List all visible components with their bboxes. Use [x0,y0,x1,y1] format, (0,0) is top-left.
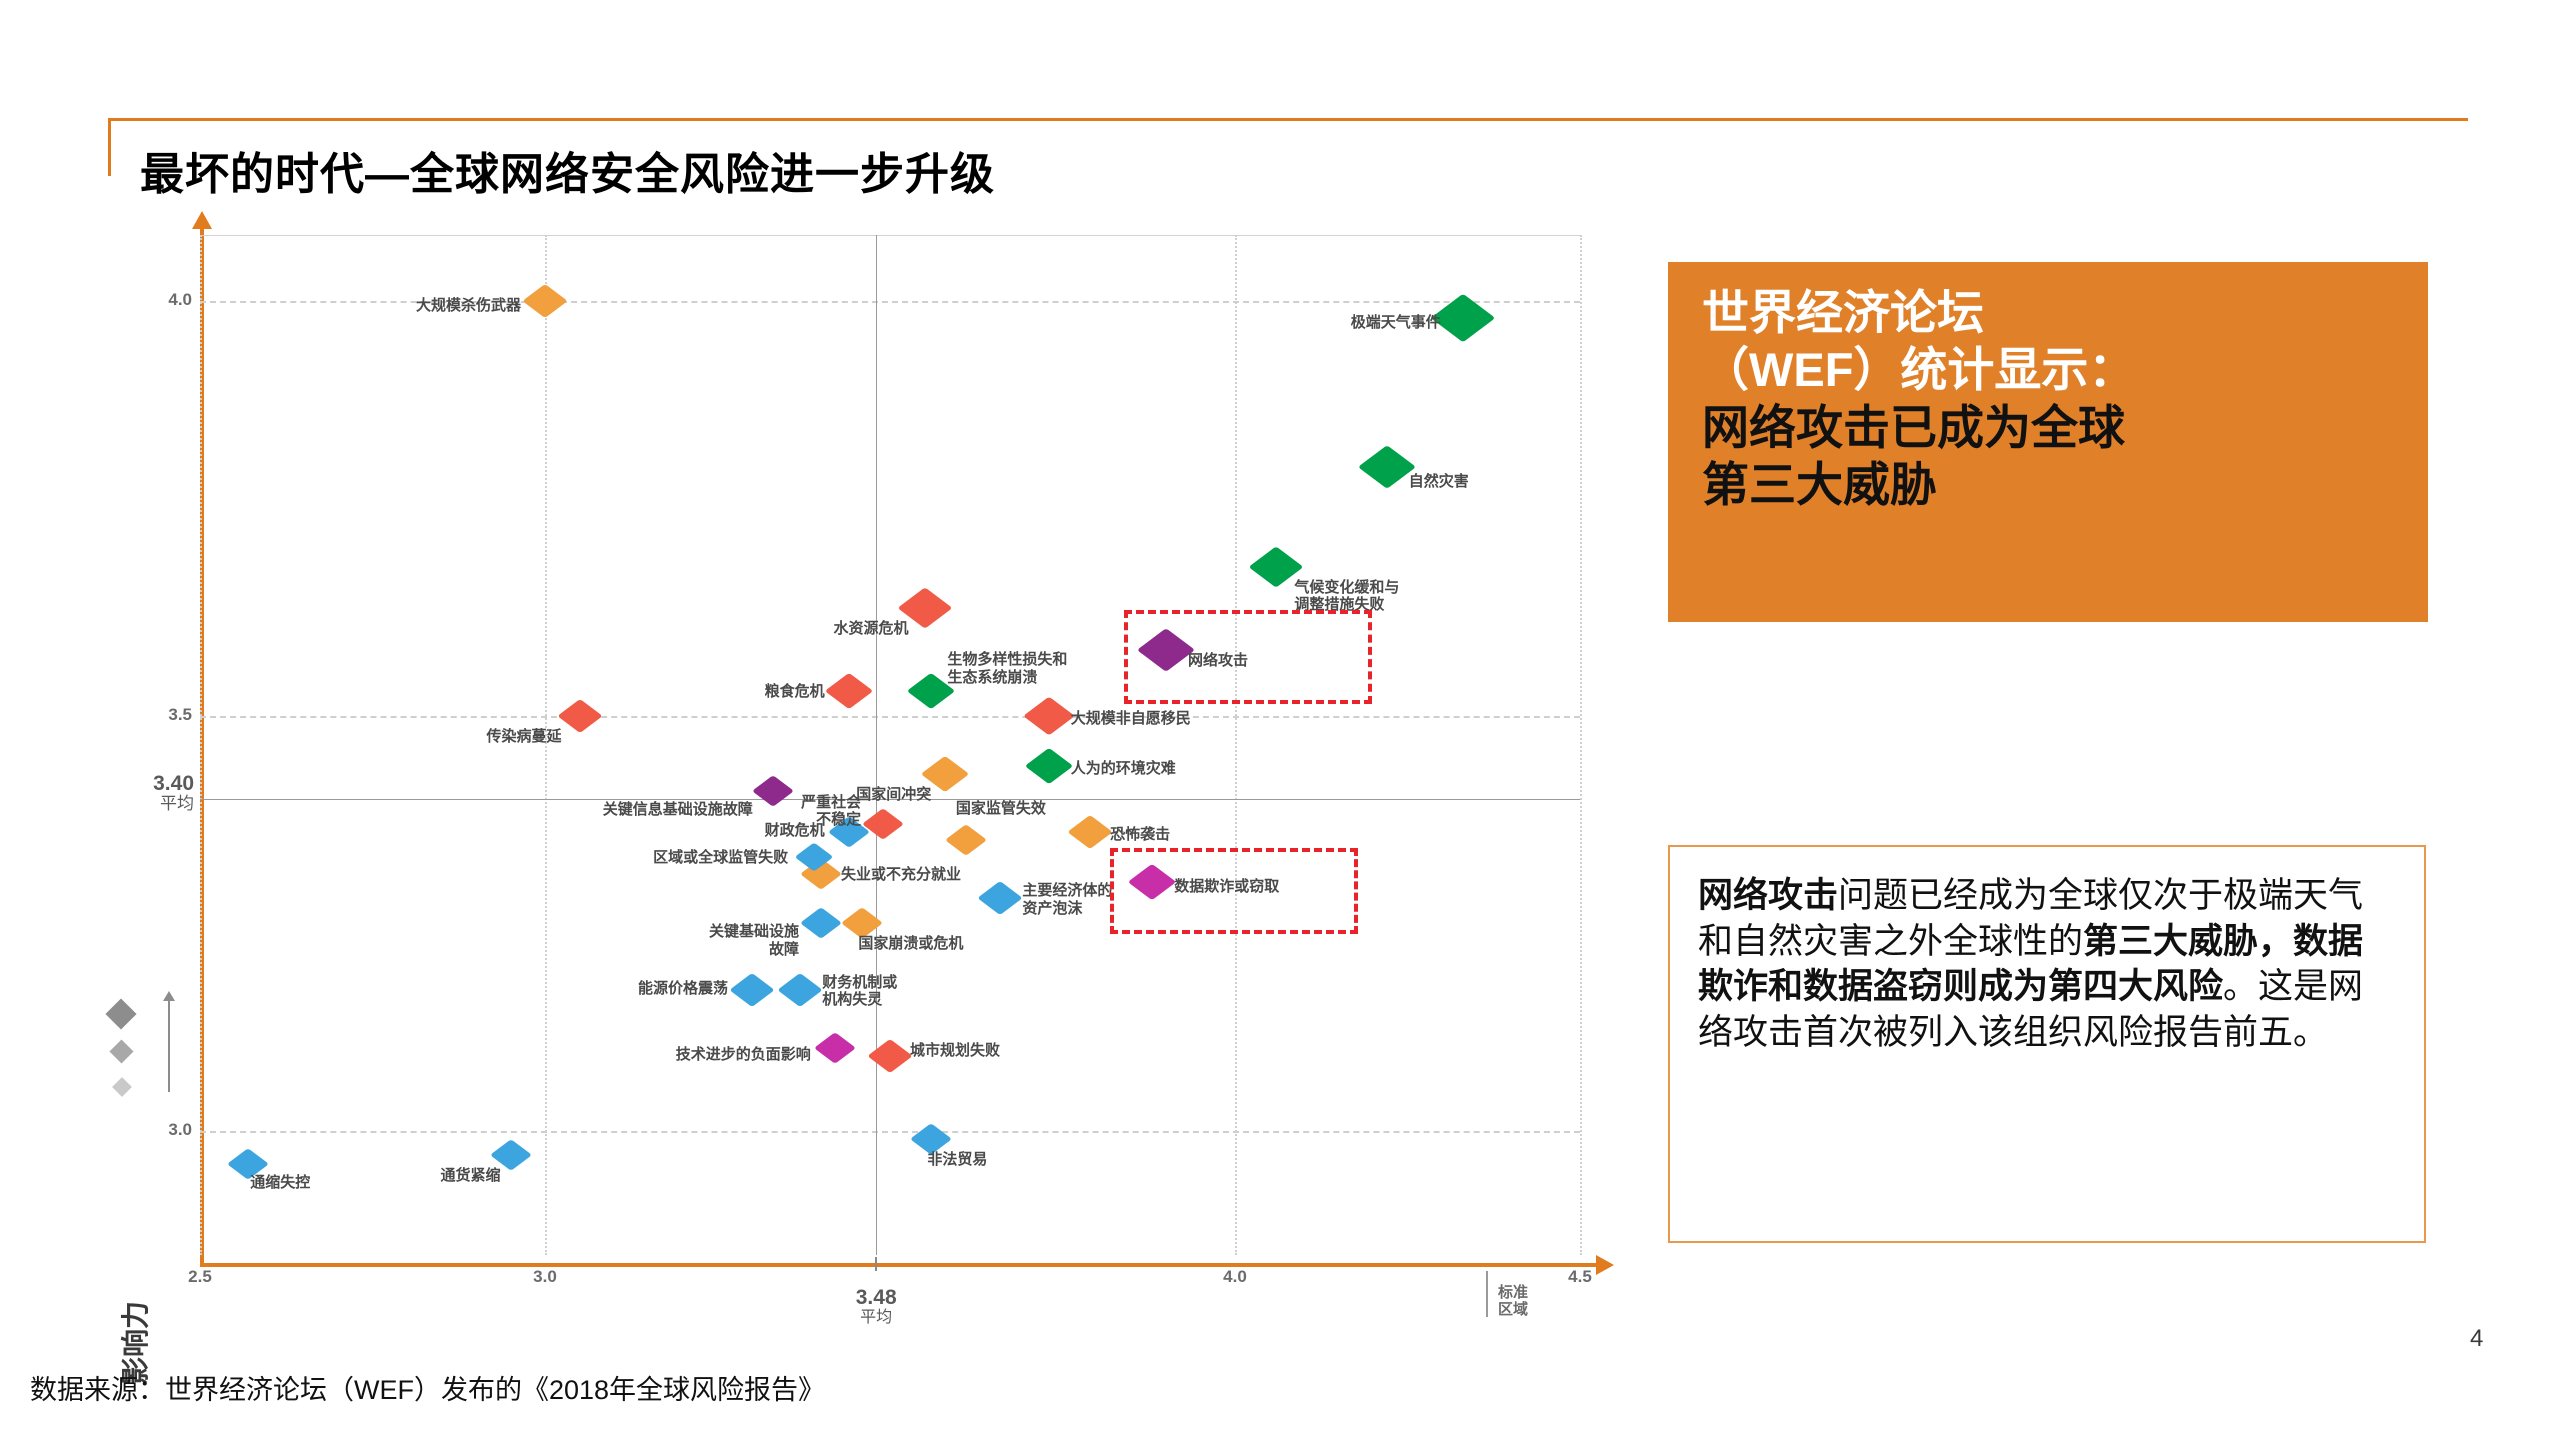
gridline-vertical [1235,235,1237,1255]
note-paragraph: 网络攻击问题已经成为全球仅次于极端天气和自然灾害之外全球性的第三大威胁，数据欺诈… [1698,873,2396,1055]
average-line-vertical [876,235,877,1255]
scatter-point-label: 国家崩溃或危机 [858,935,963,953]
scatter-point-label: 财务机制或 机构失灵 [822,974,897,1009]
legend-diamond-large-icon [105,998,136,1029]
scatter-point-label: 关键基础设施 故障 [709,923,799,958]
source-note: 数据来源：世界经济论坛（WEF）发布的《2018年全球风险报告》 [30,1368,825,1407]
scatter-point-label: 区域或全球监管失败 [653,849,788,867]
highlight-box [1124,610,1372,704]
gridline-horizontal [200,301,1580,303]
gridline-horizontal [200,1131,1580,1133]
x-average-value: 3.48 [806,1287,946,1309]
x-tick-4: 4.0 [1205,1267,1265,1287]
legend-diamond-small-icon [112,1077,132,1097]
scatter-point-label: 大规模非自愿移民 [1071,710,1191,728]
note-bold-1: 网络攻击 [1698,876,1838,915]
scatter-point-label: 失业或不充分就业 [841,866,961,884]
x-axis-line [200,1263,1600,1267]
callout-line-3: 网络攻击已成为全球 [1668,399,2428,456]
y-tick-3p5: 3.5 [130,705,192,725]
scatter-point-label: 国家监管失效 [956,800,1046,818]
x-tick-4p5: 4.5 [1550,1267,1610,1287]
x-average-tick [875,1257,877,1271]
legend-diamond-medium-icon [109,1039,133,1063]
scatter-point-label: 人为的环境灾难 [1071,760,1176,778]
scatter-point-label: 关键信息基础设施故障 [603,801,753,819]
scatter-point-label: 恐怖袭击 [1110,826,1170,844]
x-average-text: 平均 [806,1309,946,1327]
title-tick [108,118,111,176]
scatter-point-label: 非法贸易 [927,1151,987,1169]
scatter-point-label: 极端天气事件 [1351,314,1441,332]
note-box: 网络攻击问题已经成为全球仅次于极端天气和自然灾害之外全球性的第三大威胁，数据欺诈… [1668,845,2426,1243]
scatter-point-label: 水资源危机 [833,620,908,638]
callout-line-1: 世界经济论坛 [1668,262,2428,341]
y-average-value: 3.40 [62,773,194,795]
scatter-point-label: 城市规划失败 [910,1042,1000,1060]
plot-area [200,235,1580,1255]
impact-direction-arrow-icon [168,1000,170,1092]
scatter-point-label: 通货紧缩 [440,1167,500,1185]
callout-line-4: 第三大威胁 [1668,456,2428,513]
page-number: 4 [2470,1325,2483,1353]
scatter-point-label: 国家间冲突 [856,786,931,804]
gridline-vertical [200,235,202,1255]
risk-scatter-chart: 4.0 3.5 3.0 3.40 平均 2.5 3.0 4.0 4.5 3.48… [100,225,1620,1300]
y-average-label: 3.40 平均 [62,773,194,814]
scatter-point-label: 粮食危机 [765,683,825,701]
x-axis-note: 标准区域 [1498,1285,1528,1319]
page-title: 最坏的时代—全球网络安全风险进一步升级 [140,138,995,202]
y-average-text: 平均 [62,795,194,814]
y-tick-3: 3.0 [130,1120,192,1140]
scatter-point-label: 能源价格震荡 [638,980,728,998]
plot-top-border [200,235,1580,236]
scatter-point-label: 通缩失控 [250,1174,310,1192]
scatter-point-label: 技术进步的负面影响 [676,1046,811,1064]
gridline-vertical [1580,235,1582,1255]
callout-box: 世界经济论坛 （WEF）统计显示： 网络攻击已成为全球 第三大威胁 [1668,262,2428,622]
gridline-horizontal [200,716,1580,718]
scatter-point-label: 财政危机 [765,822,825,840]
scatter-point-label: 大规模杀伤武器 [416,297,521,315]
title-rule [108,118,2468,121]
scatter-point-label: 生物多样性损失和 生态系统崩溃 [947,651,1067,686]
x-average-label: 3.48 平均 [806,1287,946,1327]
slide-root: 最坏的时代—全球网络安全风险进一步升级 4.0 3.5 3.0 3.40 平均 … [0,0,2559,1439]
highlight-box [1110,848,1358,934]
x-tick-3: 3.0 [515,1267,575,1287]
y-tick-4: 4.0 [130,290,192,310]
callout-line-2: （WEF）统计显示： [1668,341,2428,398]
y-axis-arrow-icon [192,211,212,229]
x-tick-2p5: 2.5 [170,1267,230,1287]
scatter-point-label: 传染病蔓延 [486,728,561,746]
scatter-point-label: 主要经济体的 资产泡沫 [1022,882,1112,917]
scatter-point-label: 自然灾害 [1409,473,1469,491]
x-note-arrow-icon [1486,1271,1488,1317]
